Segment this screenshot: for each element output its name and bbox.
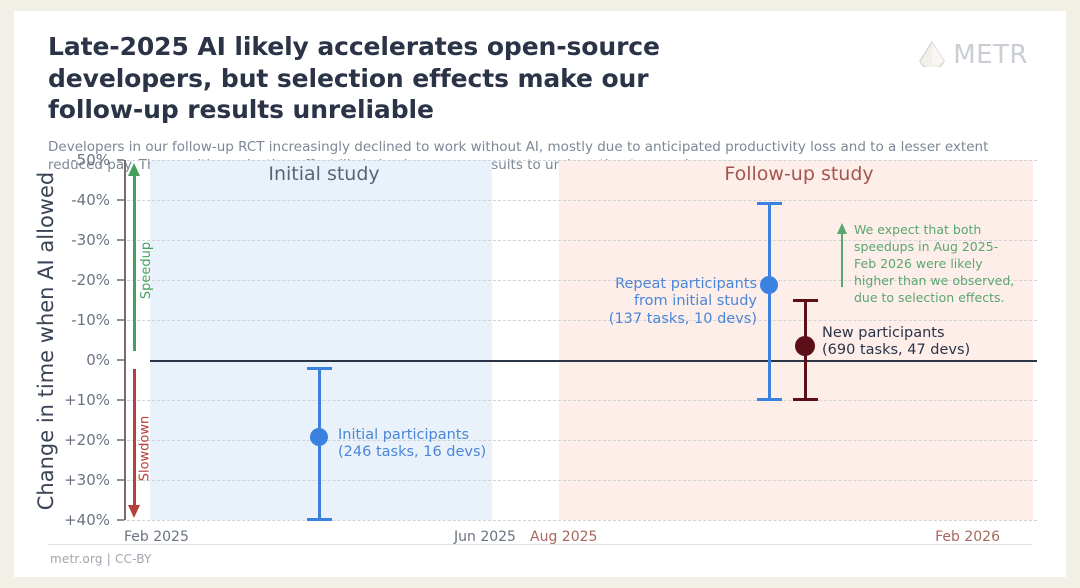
gridline-+20 xyxy=(117,440,1037,441)
x-tick-label-feb-2026: Feb 2026 xyxy=(935,529,1000,545)
y-tickmark xyxy=(117,479,124,481)
chart-card: Late-2025 AI likely accelerates open-sou… xyxy=(14,11,1066,577)
x-tick-label-jun-2025: Jun 2025 xyxy=(454,529,516,545)
gridline--10 xyxy=(117,320,1037,321)
footer-credit: metr.org | CC-BY xyxy=(50,552,152,566)
errorbar-cap-bottom-new xyxy=(793,398,818,401)
y-tick-label: +20% xyxy=(40,431,110,449)
chart-plot-area: Change in time when AI allowed xyxy=(14,11,1066,577)
y-tick-label: -20% xyxy=(40,271,110,289)
speedup-arrow-head-icon xyxy=(128,163,140,176)
slowdown-arrow-line xyxy=(133,369,136,507)
y-tick-label: -50% xyxy=(40,151,110,169)
annotation-arrow-head-icon xyxy=(837,223,847,234)
errorbar-cap-top-repeat xyxy=(757,202,782,205)
speedup-arrow-line xyxy=(133,173,136,351)
errorbar-cap-top-new xyxy=(793,299,818,302)
x-tick-label-aug-2025: Aug 2025 xyxy=(530,529,597,545)
y-tickmark xyxy=(117,279,124,281)
zero-reference-line xyxy=(150,360,1037,362)
datapoint-new-participants[interactable] xyxy=(795,336,815,356)
errorbar-repeat-participants xyxy=(768,203,771,400)
datapoint-initial-participants[interactable] xyxy=(310,428,328,446)
errorbar-cap-bottom-repeat xyxy=(757,398,782,401)
gridline-+40 xyxy=(117,520,1037,521)
label-repeat-participants: Repeat participants from initial study (… xyxy=(597,276,757,328)
annotation-arrow-line xyxy=(841,233,843,287)
band-label-followup-study: Follow-up study xyxy=(724,163,873,185)
y-tickmark xyxy=(117,319,124,321)
x-tick-label-feb-2025: Feb 2025 xyxy=(124,529,189,545)
y-tickmark xyxy=(117,399,124,401)
errorbar-cap-bottom-initial xyxy=(307,518,332,521)
y-tick-label: +40% xyxy=(40,511,110,529)
label-initial-participants: Initial participants (246 tasks, 16 devs… xyxy=(338,427,486,462)
datapoint-repeat-participants[interactable] xyxy=(760,276,778,294)
band-initial-study xyxy=(150,160,492,520)
band-label-initial-study: Initial study xyxy=(268,163,379,185)
y-tickmark xyxy=(117,199,124,201)
label-new-participants: New participants (690 tasks, 47 devs) xyxy=(822,325,970,360)
y-tickmark xyxy=(117,359,124,361)
gridline--50 xyxy=(117,160,1037,161)
slowdown-arrow-label: Slowdown xyxy=(137,416,152,482)
y-tickmark xyxy=(117,439,124,441)
y-tick-label: +10% xyxy=(40,391,110,409)
y-tickmark xyxy=(117,519,124,521)
y-tick-label: -30% xyxy=(40,231,110,249)
y-axis-spine xyxy=(124,160,126,520)
y-tick-label: -10% xyxy=(40,311,110,329)
gridline-+30 xyxy=(117,480,1037,481)
gridline--40 xyxy=(117,200,1037,201)
gridline-+10 xyxy=(117,400,1037,401)
y-tick-label: 0% xyxy=(40,351,110,369)
y-tickmark xyxy=(117,159,124,161)
page-background: Late-2025 AI likely accelerates open-sou… xyxy=(0,0,1080,588)
y-tick-label: +30% xyxy=(40,471,110,489)
y-tick-label: -40% xyxy=(40,191,110,209)
footer-divider xyxy=(48,544,1032,545)
slowdown-arrow-head-icon xyxy=(128,505,140,518)
annotation-selection-effect: We expect that both speedups in Aug 2025… xyxy=(854,222,1034,306)
errorbar-cap-top-initial xyxy=(307,367,332,370)
y-tickmark xyxy=(117,239,124,241)
speedup-arrow-label: Speedup xyxy=(139,242,154,299)
